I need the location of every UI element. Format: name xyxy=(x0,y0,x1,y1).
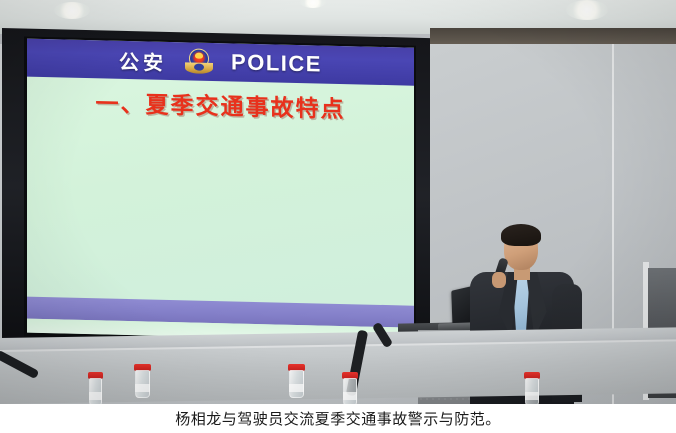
caption-bar: 杨相龙与驾驶员交流夏季交通事故警示与防范。 xyxy=(0,404,676,433)
water-bottle xyxy=(134,364,151,404)
slide-header-chinese: 公安 xyxy=(119,45,167,75)
speaker-hair xyxy=(501,224,541,246)
water-bottle xyxy=(342,372,358,404)
water-bottle xyxy=(524,372,540,404)
slide-title: 一、夏季交通事故特点 xyxy=(27,83,414,126)
caption-text: 杨相龙与驾驶员交流夏季交通事故警示与防范。 xyxy=(175,408,501,429)
photo-figure: 公安 POLICE 一、夏季交通事故特点 xyxy=(0,0,676,433)
lecture-photograph: 公安 POLICE 一、夏季交通事故特点 xyxy=(0,0,676,404)
projected-slide: 公安 POLICE 一、夏季交通事故特点 xyxy=(27,39,414,342)
slide-header-bar: 公安 POLICE xyxy=(27,39,414,86)
projection-screen-frame: 公安 POLICE 一、夏季交通事故特点 xyxy=(2,28,430,354)
ceiling-light-icon xyxy=(54,2,90,19)
slide-header-english: POLICE xyxy=(231,49,322,77)
police-emblem-icon xyxy=(185,47,213,76)
ceiling-light-icon xyxy=(566,0,608,20)
water-bottle xyxy=(288,364,305,404)
ceiling-light-icon xyxy=(300,0,326,8)
speaker-hand xyxy=(492,272,506,288)
water-bottle xyxy=(88,372,103,404)
